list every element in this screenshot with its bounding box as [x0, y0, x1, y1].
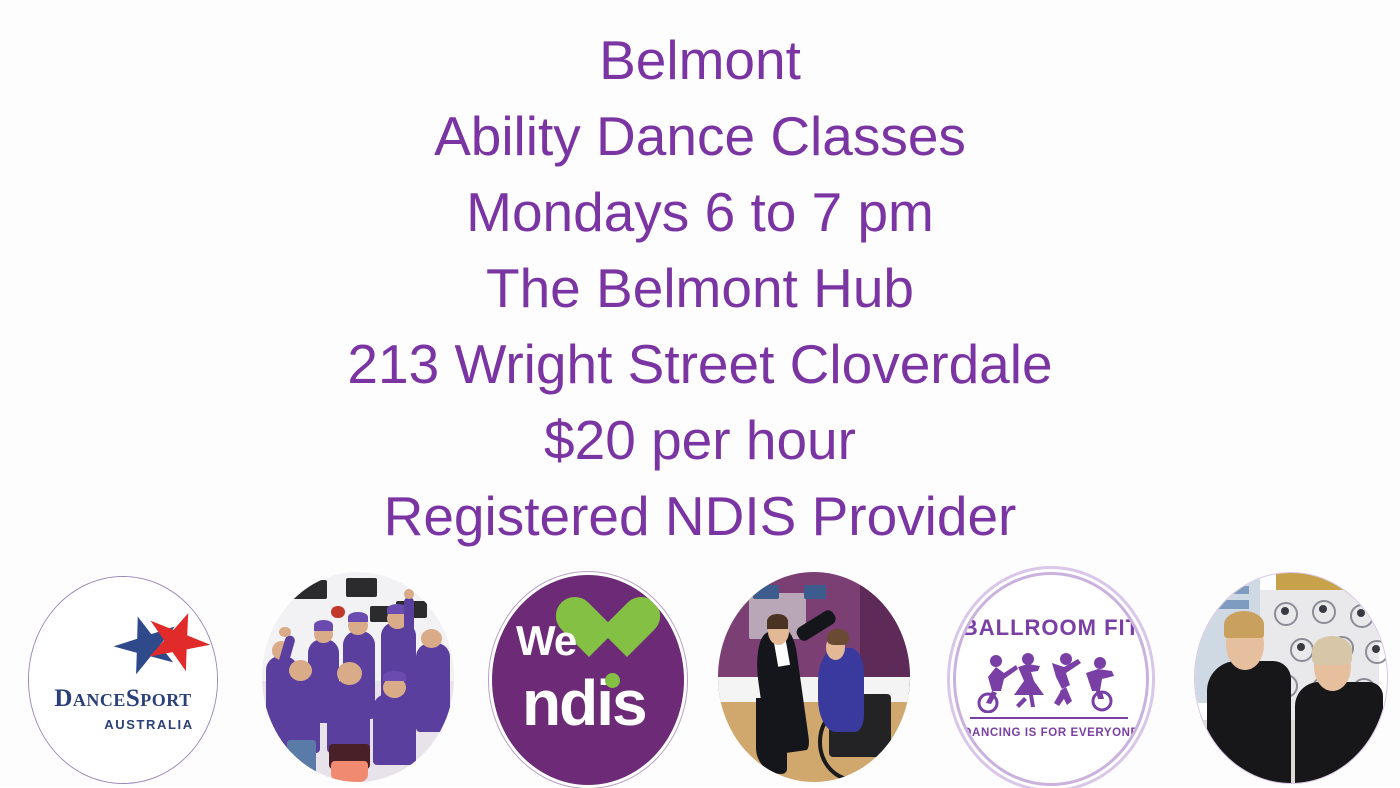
poster-line-title: Belmont — [0, 22, 1400, 98]
backdrop-logo-icon — [1274, 602, 1298, 626]
poster-text-block: Belmont Ability Dance Classes Mondays 6 … — [0, 22, 1400, 554]
group-photo-content — [262, 572, 454, 782]
poster-line-classes: Ability Dance Classes — [0, 98, 1400, 174]
banner-tile — [346, 578, 377, 597]
couple-photo — [1194, 572, 1388, 784]
ballroom-fit-logo: BALLROOM FIT — [953, 572, 1149, 786]
dancer-man-tails — [756, 698, 787, 774]
double-star-icon — [117, 609, 209, 685]
person-jeans — [287, 740, 316, 782]
we-love-ndis-logo: We ndis — [489, 572, 687, 788]
banner-logo — [331, 606, 344, 619]
dancer-man-hair — [767, 614, 788, 629]
wheelchair-photo-content — [718, 572, 910, 782]
backdrop-logo-icon — [1290, 638, 1314, 662]
hand — [404, 589, 414, 600]
heart-icon — [589, 599, 663, 667]
background-stripe — [1207, 586, 1249, 594]
person-skirt-coral — [331, 761, 367, 782]
person-head — [289, 660, 312, 681]
ndis-wordmark: ndis — [522, 671, 646, 735]
dancesport-logo-field: DanceSport AUSTRALIA — [29, 577, 217, 783]
ndis-we-text: We — [516, 617, 576, 665]
dancer-man-hair — [1224, 611, 1264, 638]
dancesport-country: AUSTRALIA — [29, 717, 217, 732]
ballroom-fit-wordmark: BALLROOM FIT — [956, 615, 1146, 641]
dancer-woman-hair — [1312, 636, 1352, 665]
raised-arm — [404, 597, 414, 643]
person — [416, 643, 451, 731]
group-photo — [262, 572, 454, 782]
dancesport-wordmark: DanceSport — [29, 685, 217, 713]
background-stripe — [1207, 600, 1249, 608]
person-cap — [383, 671, 406, 682]
poster-line-venue: The Belmont Hub — [0, 250, 1400, 326]
poster-line-ndis: Registered NDIS Provider — [0, 478, 1400, 554]
wheelchair-ballroom-photo — [718, 572, 910, 782]
person — [327, 681, 369, 752]
couple-photo-content — [1195, 573, 1387, 783]
logo-strip: DanceSport AUSTRALIA — [0, 570, 1400, 787]
dancer-lady-hair — [827, 629, 848, 646]
ballroom-fit-rule — [970, 717, 1128, 719]
backdrop-logo-icon — [1365, 640, 1388, 664]
person-cap — [314, 620, 333, 631]
person — [373, 694, 415, 765]
dancer-lady-dress — [818, 648, 864, 732]
dancer-woman-body — [1295, 682, 1383, 783]
person-head — [421, 629, 442, 648]
banner-tile — [289, 580, 327, 599]
poster-line-address: 213 Wright Street Cloverdale — [0, 326, 1400, 402]
backdrop-logo-icon — [1350, 604, 1374, 628]
venue-curtain — [860, 572, 910, 694]
ndis-dot-icon — [605, 673, 620, 688]
dancesport-australia-logo: DanceSport AUSTRALIA — [28, 576, 218, 784]
ballroom-fit-tagline: DANCING IS FOR EVERYONE — [956, 727, 1146, 739]
dancers-icon — [974, 651, 1124, 713]
poster-root: { "poster": { "background_color": "#fefd… — [0, 0, 1400, 787]
hand — [279, 627, 291, 638]
backdrop-logo-icon — [1312, 600, 1336, 624]
poster-line-price: $20 per hour — [0, 402, 1400, 478]
poster-line-schedule: Mondays 6 to 7 pm — [0, 174, 1400, 250]
person-cap — [348, 612, 367, 623]
dancer-man-body — [1207, 661, 1291, 783]
venue-signboard — [753, 585, 780, 600]
venue-signboard — [804, 585, 825, 600]
